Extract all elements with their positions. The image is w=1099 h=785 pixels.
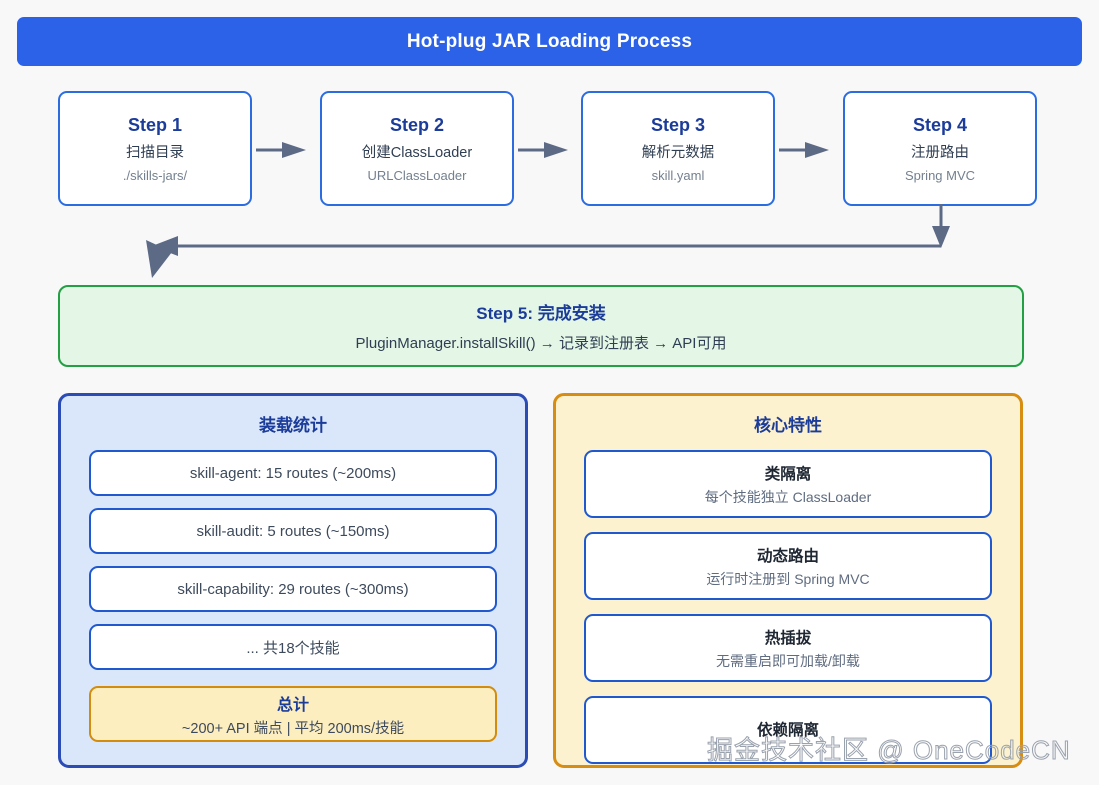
feature-card-title: 类隔离: [765, 462, 812, 484]
stat-row-label: ... 共18个技能: [246, 637, 339, 658]
feature-card-title: 动态路由: [757, 544, 819, 566]
arrow-step3-to-step4-icon: [779, 141, 831, 159]
step-card-3-note: skill.yaml: [652, 168, 705, 183]
list-item: skill-audit: 5 routes (~150ms): [89, 508, 497, 554]
list-item: 动态路由 运行时注册到 Spring MVC: [584, 532, 992, 600]
stats-total-card: 总计 ~200+ API 端点 | 平均 200ms/技能: [89, 686, 497, 742]
step-card-4-title: Step 4: [913, 115, 967, 136]
step-card-1-title: Step 1: [128, 115, 182, 136]
page-title: Hot-plug JAR Loading Process: [407, 31, 692, 53]
list-item: ... 共18个技能: [89, 624, 497, 670]
panel-core-features-title: 核心特性: [556, 411, 1020, 436]
step-card-1-note: ./skills-jars/: [123, 168, 187, 183]
step-card-2-title: Step 2: [390, 115, 444, 136]
step-card-2: Step 2 创建ClassLoader URLClassLoader: [320, 91, 514, 206]
panel-load-statistics: 装载统计 skill-agent: 15 routes (~200ms) ski…: [58, 393, 528, 768]
arrow-step2-to-step3-icon: [518, 141, 570, 159]
step-card-2-subtitle: 创建ClassLoader: [362, 141, 472, 162]
step-card-1: Step 1 扫描目录 ./skills-jars/: [58, 91, 252, 206]
stat-row-label: skill-capability: 29 routes (~300ms): [177, 581, 408, 598]
step-card-4-subtitle: 注册路由: [911, 141, 969, 162]
stats-total-title: 总计: [277, 691, 309, 715]
feature-card-detail: 每个技能独立 ClassLoader: [705, 487, 872, 507]
stats-total-detail: ~200+ API 端点 | 平均 200ms/技能: [182, 717, 404, 738]
feature-card-title: 依赖隔离: [757, 718, 819, 740]
panel-load-statistics-title: 装载统计: [61, 411, 525, 436]
list-item: 热插拔 无需重启即可加载/卸载: [584, 614, 992, 682]
list-item: 依赖隔离: [584, 696, 992, 764]
step-card-5-title: Step 5: 完成安装: [476, 299, 605, 324]
step-card-2-note: URLClassLoader: [368, 168, 467, 183]
list-item: skill-agent: 15 routes (~200ms): [89, 450, 497, 496]
step-card-4: Step 4 注册路由 Spring MVC: [843, 91, 1037, 206]
feature-card-detail: 运行时注册到 Spring MVC: [706, 569, 869, 589]
stat-row-label: skill-audit: 5 routes (~150ms): [197, 523, 390, 540]
step-card-1-subtitle: 扫描目录: [126, 141, 184, 162]
feature-card-title: 热插拔: [765, 626, 812, 648]
arrow-feedback-loop-icon: [0, 200, 1099, 290]
diagram-canvas: Hot-plug JAR Loading Process Step 1 扫描目录…: [0, 0, 1099, 785]
stat-row-label: skill-agent: 15 routes (~200ms): [190, 465, 396, 482]
diagram-title-bar: Hot-plug JAR Loading Process: [17, 17, 1082, 66]
feature-card-detail: 无需重启即可加载/卸载: [716, 651, 860, 671]
step-card-5-complete: Step 5: 完成安装 PluginManager.installSkill(…: [58, 285, 1024, 367]
step-card-3-subtitle: 解析元数据: [642, 141, 715, 162]
list-item: skill-capability: 29 routes (~300ms): [89, 566, 497, 612]
step-card-4-note: Spring MVC: [905, 168, 975, 183]
step-card-3-title: Step 3: [651, 115, 705, 136]
list-item: 类隔离 每个技能独立 ClassLoader: [584, 450, 992, 518]
panel-core-features: 核心特性 类隔离 每个技能独立 ClassLoader 动态路由 运行时注册到 …: [553, 393, 1023, 768]
arrow-step1-to-step2-icon: [256, 141, 308, 159]
step-card-5-detail: PluginManager.installSkill() → 记录到注册表 → …: [356, 332, 727, 353]
step-card-3: Step 3 解析元数据 skill.yaml: [581, 91, 775, 206]
